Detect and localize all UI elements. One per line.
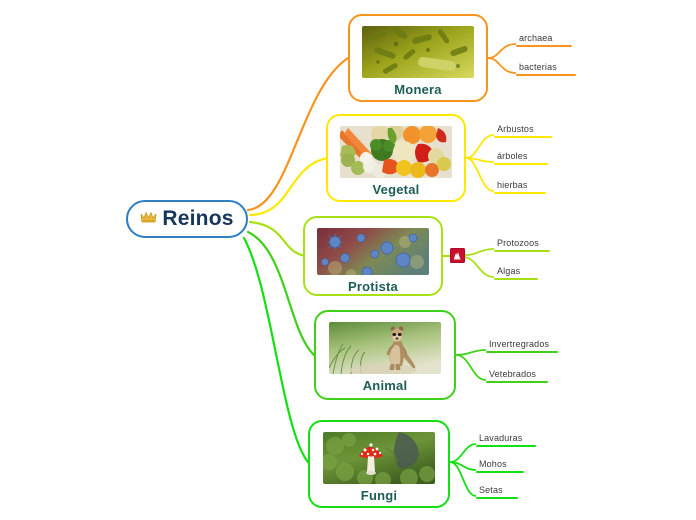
mushroom-photo	[323, 432, 435, 484]
branch-node-vegetal[interactable]: Vegetal	[326, 114, 466, 202]
microbes-photo	[317, 228, 429, 275]
leaf-label: Setas	[476, 485, 506, 497]
leaf-vegetal-arbustos[interactable]: Arbustos	[494, 124, 552, 138]
leaf-underline	[516, 45, 572, 47]
branch-label-monera: Monera	[394, 82, 441, 97]
attachment-marker-icon[interactable]	[450, 248, 465, 263]
leaf-animal-invertregrados[interactable]: Invertregrados	[486, 339, 558, 353]
root-label: Reinos	[162, 207, 233, 231]
leaf-label: Arbustos	[494, 124, 537, 136]
leaf-label: archaea	[516, 33, 556, 45]
leaf-underline	[486, 351, 558, 353]
bacteria-photo	[362, 26, 474, 78]
leaf-underline	[486, 381, 548, 383]
crown-icon	[140, 211, 157, 227]
leaf-vegetal-arboles[interactable]: árboles	[494, 151, 548, 165]
leaf-label: árboles	[494, 151, 531, 163]
leaf-monera-archaea[interactable]: archaea	[516, 33, 572, 47]
leaf-underline	[494, 136, 552, 138]
branch-node-protista[interactable]: Protista	[303, 216, 443, 296]
branch-node-animal[interactable]: Animal	[314, 310, 456, 400]
leaf-label: hierbas	[494, 180, 531, 192]
branch-node-fungi[interactable]: Fungi	[308, 420, 450, 508]
leaf-label: Mohos	[476, 459, 510, 471]
leaf-label: Lavaduras	[476, 433, 525, 445]
leaf-underline	[476, 471, 524, 473]
meerkat-photo	[329, 322, 441, 374]
mindmap-canvas: Reinos	[0, 0, 696, 520]
leaf-underline	[476, 445, 536, 447]
leaf-label: Protozoos	[494, 238, 542, 250]
leaf-underline	[494, 278, 538, 280]
branch-label-protista: Protista	[348, 279, 398, 294]
branch-label-vegetal: Vegetal	[373, 182, 420, 197]
leaf-label: Algas	[494, 266, 523, 278]
leaf-fungi-setas[interactable]: Setas	[476, 485, 518, 499]
leaf-fungi-mohos[interactable]: Mohos	[476, 459, 524, 473]
leaf-fungi-lavaduras[interactable]: Lavaduras	[476, 433, 536, 447]
leaf-label: Vetebrados	[486, 369, 539, 381]
leaf-label: Invertregrados	[486, 339, 552, 351]
leaf-underline	[476, 497, 518, 499]
branch-label-fungi: Fungi	[361, 488, 397, 503]
leaf-vegetal-hierbas[interactable]: hierbas	[494, 180, 546, 194]
branch-node-monera[interactable]: Monera	[348, 14, 488, 102]
vegetables-photo	[340, 126, 452, 178]
leaf-label: bacterias	[516, 62, 560, 74]
leaf-underline	[494, 192, 546, 194]
leaf-underline	[516, 74, 576, 76]
leaf-underline	[494, 250, 550, 252]
leaf-monera-bacterias[interactable]: bacterias	[516, 62, 576, 76]
branch-label-animal: Animal	[363, 378, 408, 393]
leaf-protista-algas[interactable]: Algas	[494, 266, 538, 280]
leaf-underline	[494, 163, 548, 165]
leaf-protista-protozoos[interactable]: Protozoos	[494, 238, 550, 252]
leaf-animal-vetebrados[interactable]: Vetebrados	[486, 369, 548, 383]
root-node-reinos[interactable]: Reinos	[126, 200, 248, 238]
